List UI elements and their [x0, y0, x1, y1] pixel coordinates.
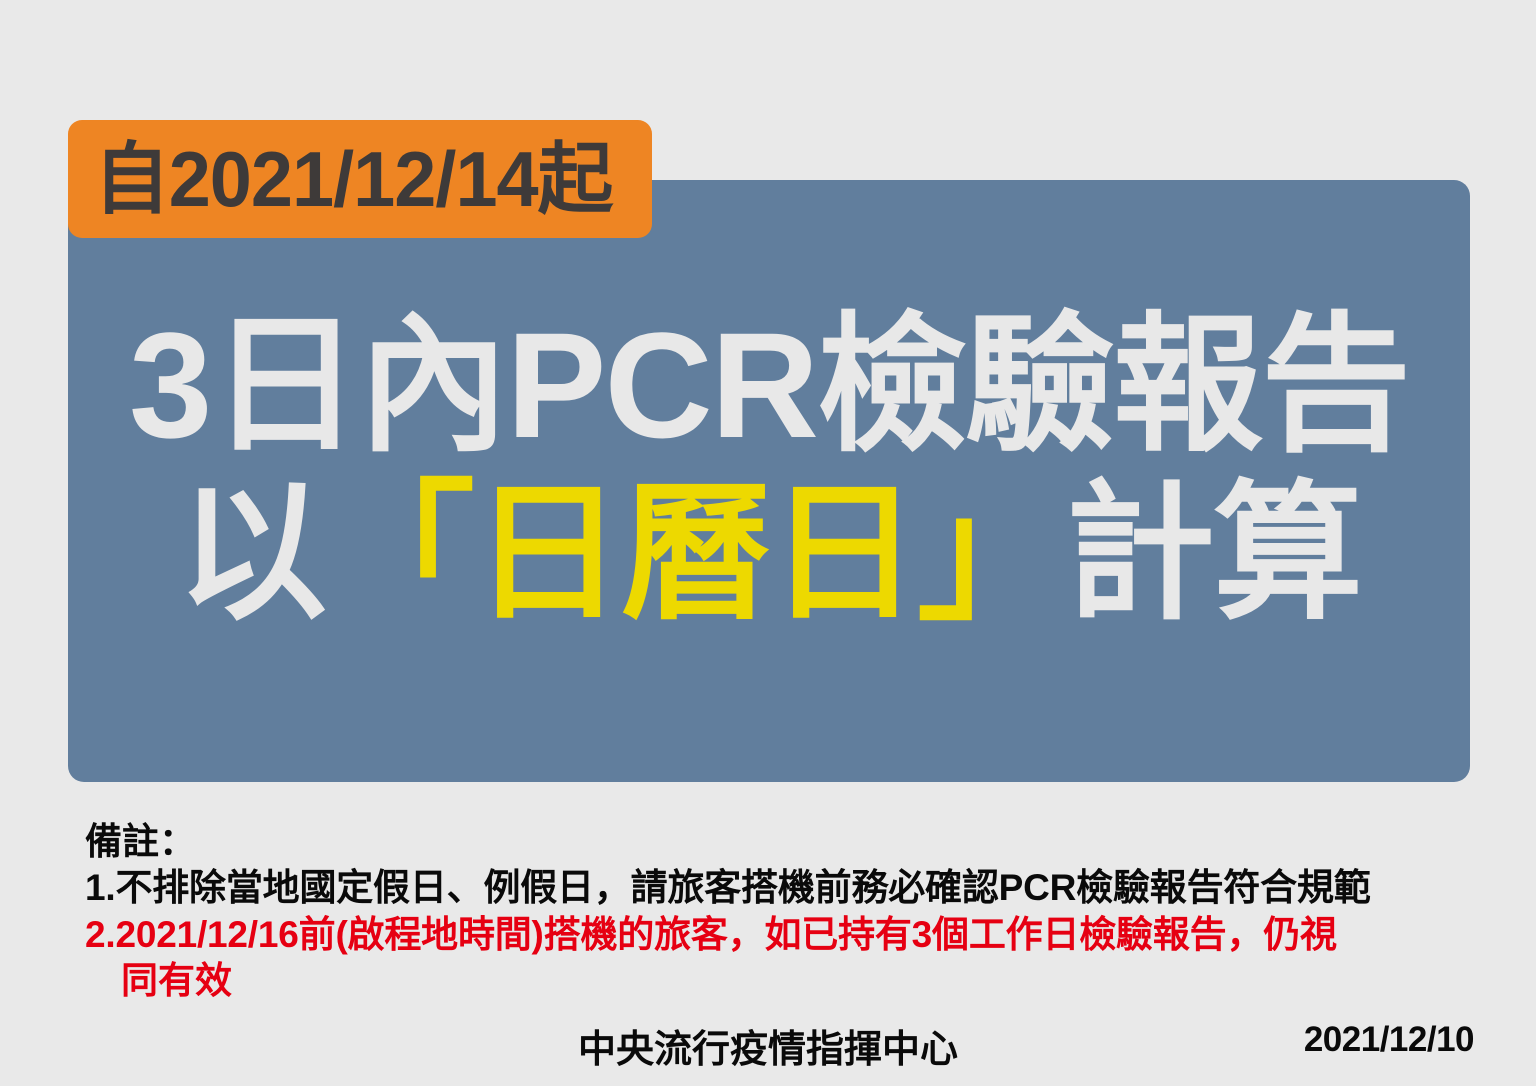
headline-line-2: 以「日曆日」計算: [68, 466, 1470, 640]
note-item-2-continuation: 同有效: [85, 958, 1465, 1004]
headline-line-2-highlight: 「日曆日」: [325, 469, 1065, 637]
headline-line-2-suffix: 計算: [1065, 469, 1361, 637]
effective-date-badge: 自2021/12/14起: [68, 120, 652, 238]
note-item-1: 1.不排除當地國定假日、例假日，請旅客搭機前務必確認PCR檢驗報告符合規範: [85, 865, 1465, 911]
footer: 中央流行疫情指揮中心 2021/12/10: [0, 1018, 1536, 1070]
notes-block: 備註： 1.不排除當地國定假日、例假日，請旅客搭機前務必確認PCR檢驗報告符合規…: [85, 818, 1465, 1004]
headline-text-group: 3日內PCR檢驗報告 以「日曆日」計算: [68, 298, 1470, 640]
headline-line-1: 3日內PCR檢驗報告: [68, 298, 1470, 472]
notes-title: 備註：: [85, 818, 1465, 865]
footer-date: 2021/12/10: [1304, 1020, 1474, 1060]
effective-date-badge-label: 自2021/12/14起: [94, 140, 612, 218]
poster-root: 3日內PCR檢驗報告 以「日曆日」計算 自2021/12/14起 備註： 1.不…: [0, 0, 1536, 1086]
note-item-2: 2.2021/12/16前(啟程地時間)搭機的旅客，如已持有3個工作日檢驗報告，…: [85, 912, 1465, 958]
headline-line-2-prefix: 以: [177, 469, 325, 637]
headline-panel: 3日內PCR檢驗報告 以「日曆日」計算: [68, 180, 1470, 782]
